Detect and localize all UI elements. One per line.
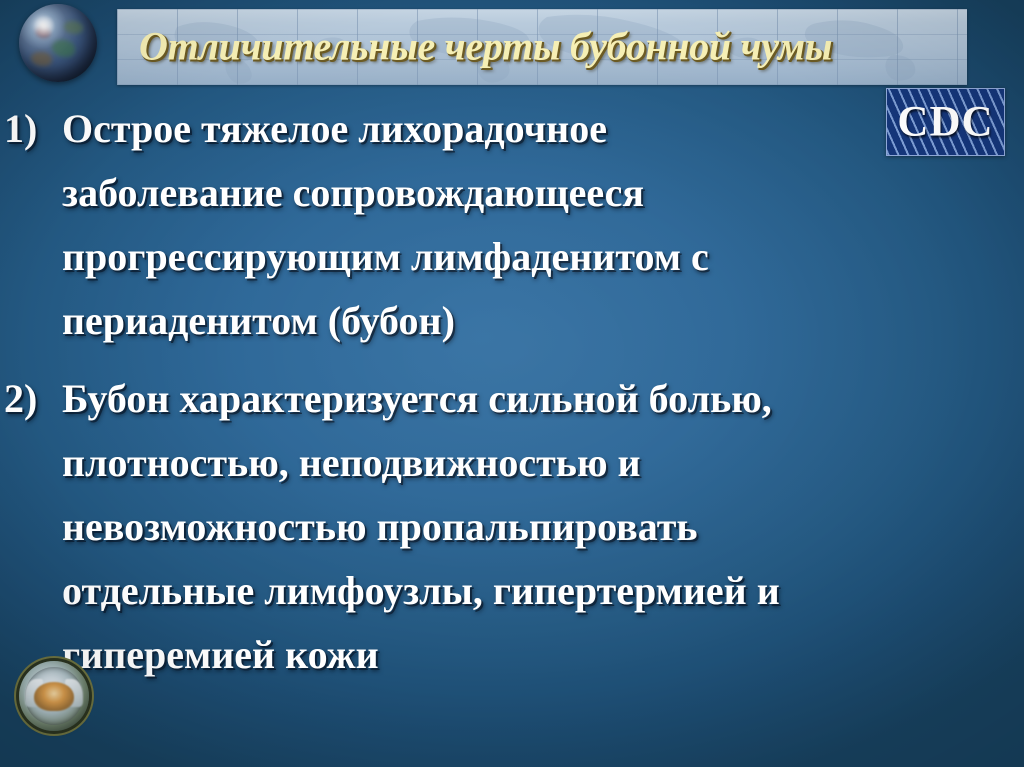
text-line: плотностью, неподвижностью и [62, 431, 1010, 495]
list-marker: 1) [4, 97, 58, 161]
text-line: прогрессирующим лимфаденитом с [62, 225, 1010, 289]
title-bar: Отличительные черты бубонной чумы [117, 9, 967, 85]
list-item-text: Бубон характеризуется сильной болью, пло… [62, 367, 1010, 687]
text-line: невозможностью пропальпировать [62, 495, 1010, 559]
text-line: Бубон характеризуется сильной болью, [62, 367, 1010, 431]
list-item: 2) Бубон характеризуется сильной болью, … [0, 367, 1010, 687]
globe-icon [19, 4, 97, 82]
globe-highlight [32, 16, 55, 36]
text-line: отдельные лимфоузлы, гипертермией и [62, 559, 1010, 623]
text-line: периаденитом (бубон) [62, 289, 1010, 353]
globe-landmass [52, 40, 75, 57]
globe-landmass [64, 21, 83, 33]
list-marker: 2) [4, 367, 58, 431]
seal-eagle-body [34, 682, 73, 711]
globe-landmass [31, 52, 51, 66]
text-line: заболевание сопровождающееся [62, 161, 1010, 225]
slide-canvas: Отличительные черты бубонной чумы CDC 1)… [0, 0, 1024, 767]
hhs-eagle-seal-icon [19, 661, 89, 731]
list-item: 1) Острое тяжелое лихорадочное заболеван… [0, 97, 1010, 353]
list-item-text: Острое тяжелое лихорадочное заболевание … [62, 97, 1010, 353]
page-title: Отличительные черты бубонной чумы [139, 23, 832, 70]
text-line: гиперемией кожи [62, 623, 1010, 687]
text-line: Острое тяжелое лихорадочное [62, 97, 1010, 161]
slide-body: 1) Острое тяжелое лихорадочное заболеван… [0, 97, 1010, 701]
